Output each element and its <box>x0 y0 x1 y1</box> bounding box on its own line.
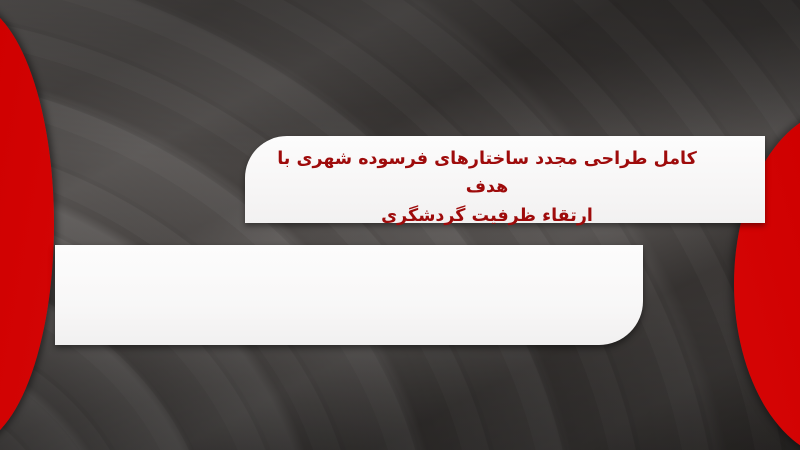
slide-content-plate[interactable] <box>55 245 643 345</box>
slide-background-vignette <box>0 0 800 450</box>
presentation-slide: کامل طراحی مجدد ساختارهای فرسوده شهری با… <box>0 0 800 450</box>
slide-content-text <box>55 245 643 345</box>
slide-title-plate <box>245 136 765 223</box>
